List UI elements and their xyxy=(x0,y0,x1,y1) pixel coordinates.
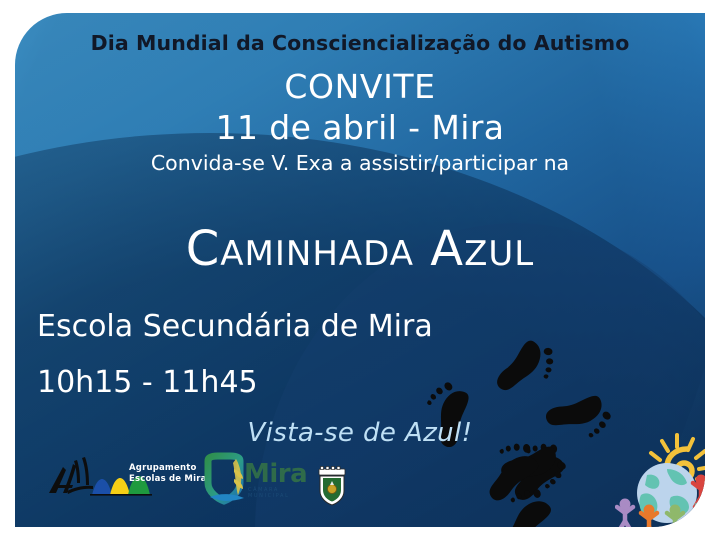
brasao-de-mira xyxy=(311,465,353,507)
slogan-vista-se-de-azul: Vista-se de Azul! xyxy=(15,418,705,448)
event-name-caminhada-azul: Caminhada Azul xyxy=(15,221,705,277)
date-and-place: 11 de abril - Mira xyxy=(15,108,705,147)
globe-with-children-logo xyxy=(615,429,705,527)
school-logo-text: Agrupamento Escolas de Mira xyxy=(129,463,207,485)
venue-name: Escola Secundária de Mira xyxy=(37,309,433,344)
coat-of-arms-icon xyxy=(311,465,353,507)
invitation-line: Convida-se V. Exa a assistir/participar … xyxy=(15,151,705,175)
poster-canvas: Dia Mundial da Consciencialização do Aut… xyxy=(15,13,705,527)
globe-children-icon xyxy=(615,429,705,527)
title-world-autism-day: Dia Mundial da Consciencialização do Aut… xyxy=(15,31,705,55)
agrupamento-escolas-de-mira-logo: Agrupamento Escolas de Mira xyxy=(37,449,207,509)
school-logo-line1: Agrupamento xyxy=(129,463,207,474)
mira-logo-wordmark: Mira xyxy=(244,459,307,489)
title-convite: CONVITE xyxy=(15,67,705,106)
mira-logo-subtitle: CÂMARA MUNICIPAL xyxy=(248,487,320,499)
event-time: 10h15 - 11h45 xyxy=(37,365,258,400)
camara-municipal-de-mira-logo: Mira CÂMARA MUNICIPAL xyxy=(200,451,320,509)
school-logo-line2: Escolas de Mira xyxy=(129,474,207,485)
